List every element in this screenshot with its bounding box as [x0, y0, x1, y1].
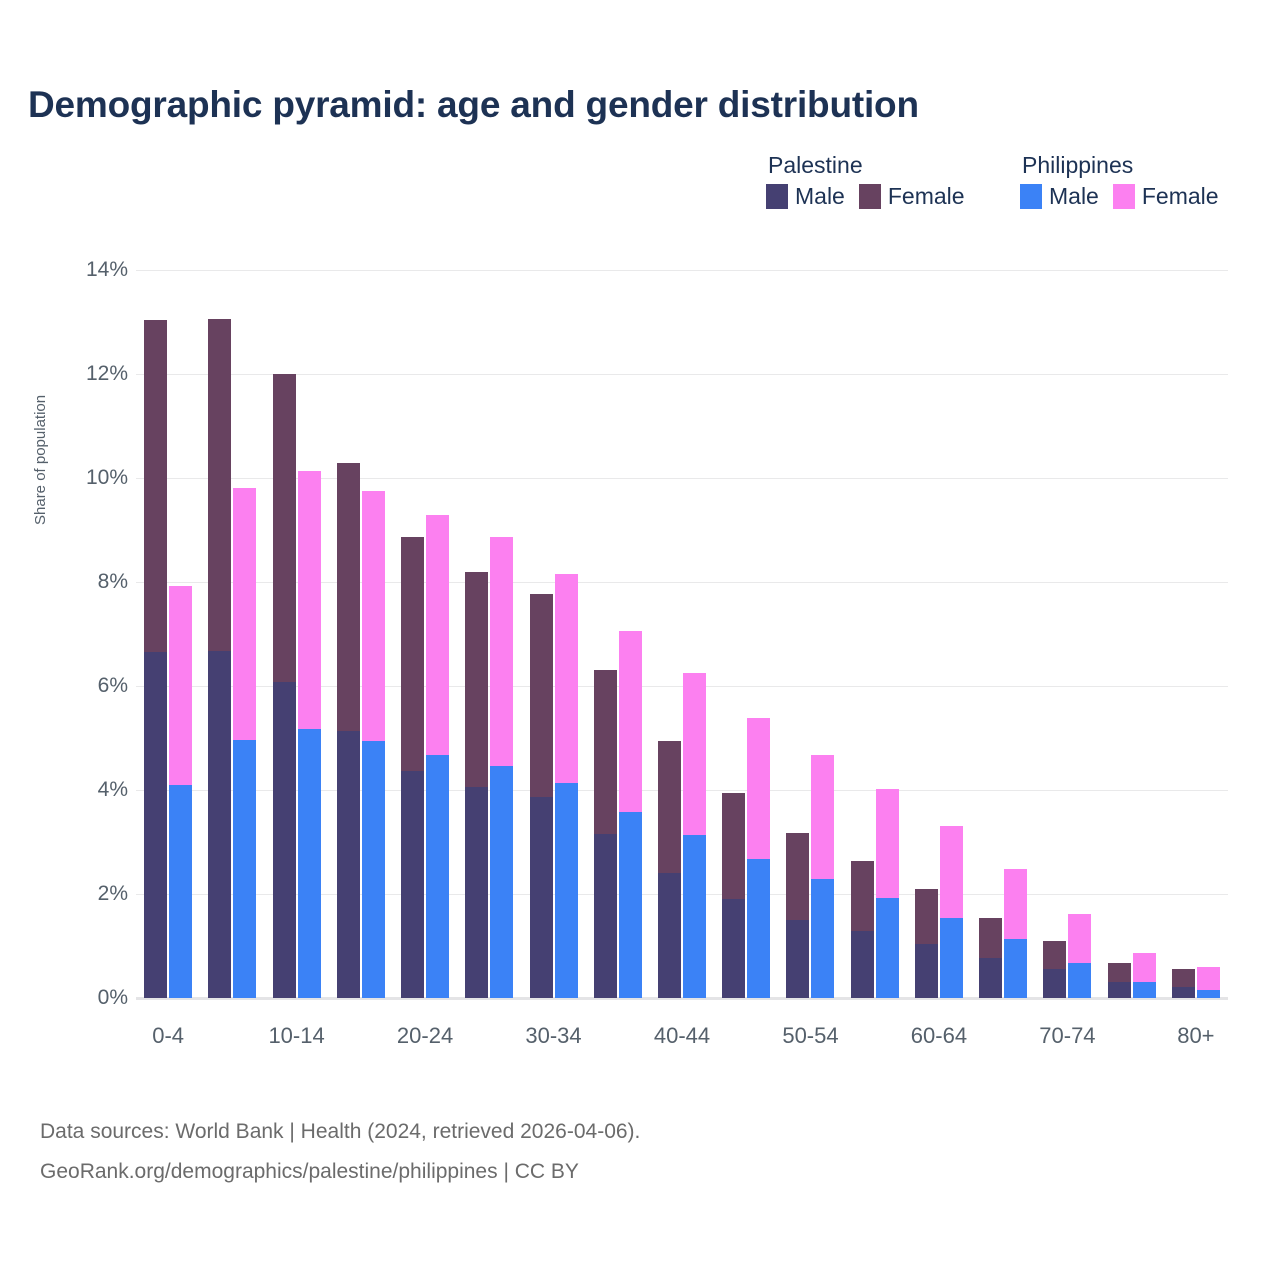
bar-segment-palestine-female	[401, 537, 424, 771]
plot-area: Share of population 0%2%4%6%8%10%12%14% …	[0, 0, 1280, 1280]
footer-sources: Data sources: World Bank | Health (2024,…	[40, 1112, 640, 1152]
bar-segment-palestine-male	[208, 651, 231, 998]
bar-segment-palestine-female	[208, 319, 231, 651]
bar-segment-palestine-female	[722, 793, 745, 900]
bar-group	[337, 270, 385, 998]
bar-segment-palestine-male	[273, 682, 296, 998]
bar-group	[208, 270, 256, 998]
y-axis-tick-label: 0%	[52, 986, 128, 1010]
bar-segment-palestine-male	[530, 797, 553, 998]
bar-segment-palestine-female	[144, 320, 167, 652]
bar-segment-philippines-female	[811, 755, 834, 879]
bar-segment-philippines-female	[233, 488, 256, 740]
bar-segment-palestine-female	[979, 918, 1002, 959]
bar-group	[401, 270, 449, 998]
y-axis-tick-label: 8%	[52, 570, 128, 594]
bar-segment-palestine-female	[1108, 963, 1131, 982]
bar-segment-philippines-male	[1197, 990, 1220, 998]
y-axis-ticks: 0%2%4%6%8%10%12%14%	[0, 0, 128, 1280]
footer-attribution: GeoRank.org/demographics/palestine/phili…	[40, 1152, 640, 1192]
bar-segment-philippines-female	[298, 471, 321, 729]
bar-segment-philippines-male	[298, 729, 321, 998]
bar-segment-philippines-male	[169, 785, 192, 998]
bar-segment-philippines-female	[1133, 953, 1156, 982]
bar-segment-philippines-male	[940, 918, 963, 998]
bar-segment-philippines-female	[362, 491, 385, 741]
x-axis-tick-label: 60-64	[911, 1023, 967, 1049]
bar-segment-palestine-male	[658, 873, 681, 998]
bar-segment-philippines-male	[555, 783, 578, 998]
bar-group	[465, 270, 513, 998]
bar-segment-palestine-male	[851, 931, 874, 998]
x-axis-tick-label: 40-44	[654, 1023, 710, 1049]
bar-segment-palestine-male	[594, 834, 617, 998]
bars-area	[136, 270, 1228, 998]
bar-group	[851, 270, 899, 998]
bar-segment-philippines-female	[940, 826, 963, 918]
bar-segment-philippines-male	[1068, 963, 1091, 998]
bar-group	[915, 270, 963, 998]
bar-group	[1108, 270, 1156, 998]
bar-segment-philippines-female	[876, 789, 899, 898]
bar-segment-palestine-male	[465, 787, 488, 998]
bar-segment-palestine-male	[1108, 982, 1131, 998]
bar-segment-philippines-female	[1068, 914, 1091, 963]
bar-segment-palestine-male	[401, 771, 424, 998]
bar-segment-palestine-female	[465, 572, 488, 787]
y-axis-tick-label: 10%	[52, 466, 128, 490]
x-axis-tick-label: 0-4	[152, 1023, 184, 1049]
y-axis-tick-label: 4%	[52, 778, 128, 802]
bar-group	[530, 270, 578, 998]
bar-segment-philippines-female	[555, 574, 578, 783]
x-axis-tick-label: 30-34	[525, 1023, 581, 1049]
bar-group	[1043, 270, 1091, 998]
bar-segment-philippines-female	[747, 718, 770, 858]
bar-segment-philippines-female	[426, 515, 449, 754]
bar-segment-palestine-male	[979, 958, 1002, 998]
bar-segment-philippines-male	[1004, 939, 1027, 998]
bar-segment-palestine-female	[851, 861, 874, 931]
bar-group	[658, 270, 706, 998]
chart-page: Demographic pyramid: age and gender dist…	[0, 0, 1280, 1280]
bar-segment-philippines-female	[619, 631, 642, 812]
bar-segment-philippines-male	[490, 766, 513, 998]
bar-segment-philippines-male	[362, 741, 385, 998]
bar-segment-philippines-female	[1197, 967, 1220, 990]
bar-segment-philippines-female	[1004, 869, 1027, 939]
bar-segment-philippines-male	[811, 879, 834, 998]
bar-segment-palestine-male	[786, 920, 809, 998]
bar-segment-philippines-female	[683, 673, 706, 835]
bar-segment-philippines-female	[169, 586, 192, 785]
bar-segment-palestine-male	[1172, 987, 1195, 998]
bar-segment-palestine-female	[915, 889, 938, 945]
y-axis-tick-label: 14%	[52, 258, 128, 282]
bar-segment-palestine-female	[337, 463, 360, 731]
bar-segment-philippines-male	[233, 740, 256, 998]
bar-segment-palestine-male	[337, 731, 360, 998]
bar-segment-philippines-male	[876, 898, 899, 998]
bar-group	[979, 270, 1027, 998]
y-axis-tick-label: 6%	[52, 674, 128, 698]
bar-segment-philippines-male	[619, 812, 642, 998]
x-axis-tick-label: 70-74	[1039, 1023, 1095, 1049]
bar-group	[1172, 270, 1220, 998]
bar-segment-palestine-male	[144, 652, 167, 998]
bar-segment-palestine-male	[722, 899, 745, 998]
footer: Data sources: World Bank | Health (2024,…	[40, 1112, 640, 1192]
x-axis-tick-label: 10-14	[268, 1023, 324, 1049]
bar-segment-palestine-female	[1043, 941, 1066, 969]
y-axis-tick-label: 2%	[52, 882, 128, 906]
bar-segment-palestine-female	[273, 374, 296, 682]
bar-segment-palestine-female	[530, 594, 553, 797]
x-axis-tick-label: 50-54	[782, 1023, 838, 1049]
y-axis-tick-label: 12%	[52, 362, 128, 386]
bar-group	[594, 270, 642, 998]
bar-segment-palestine-female	[1172, 969, 1195, 986]
bar-segment-philippines-male	[1133, 982, 1156, 998]
bar-group	[786, 270, 834, 998]
bar-segment-philippines-male	[683, 835, 706, 998]
bar-segment-philippines-male	[426, 755, 449, 998]
bar-segment-philippines-female	[490, 537, 513, 766]
bar-segment-palestine-male	[1043, 969, 1066, 998]
bar-segment-palestine-female	[786, 833, 809, 920]
bar-group	[722, 270, 770, 998]
bar-segment-palestine-male	[915, 944, 938, 998]
x-axis-tick-label: 20-24	[397, 1023, 453, 1049]
bar-segment-philippines-male	[747, 859, 770, 998]
bar-segment-palestine-female	[594, 670, 617, 834]
x-axis-tick-label: 80+	[1177, 1023, 1214, 1049]
bar-segment-palestine-female	[658, 741, 681, 873]
bar-group	[273, 270, 321, 998]
bar-group	[144, 270, 192, 998]
